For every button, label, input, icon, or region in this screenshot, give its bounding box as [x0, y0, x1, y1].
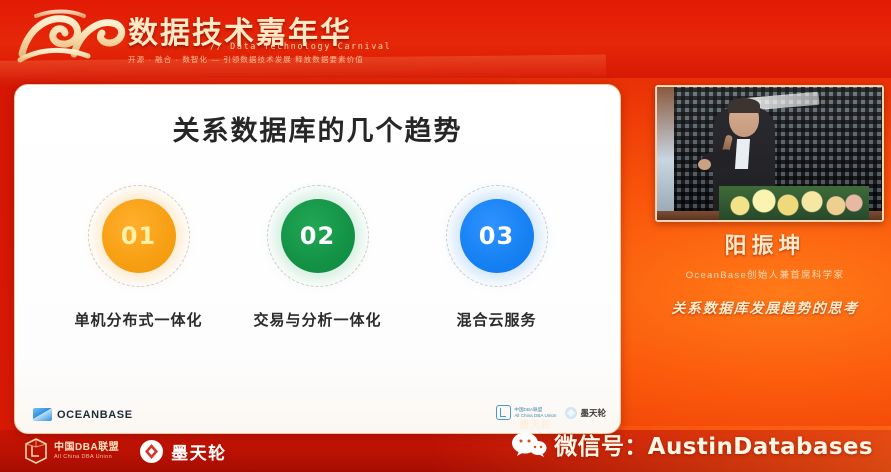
motianlun-logo-icon	[565, 407, 577, 419]
step-item: 02 交易与分析一体化	[233, 185, 403, 330]
step-number-badge: 01	[102, 199, 176, 273]
video-flower-arrangement	[719, 186, 869, 220]
motianlun-text: 墨天轮	[171, 439, 227, 464]
screenshot-root: 数据技术嘉年华 // Data Technology Carnival 开源 ·…	[0, 0, 891, 472]
oceanbase-logo: OCEANBASE	[33, 408, 133, 421]
video-speaker-hand	[698, 159, 711, 170]
video-speaker-shirt	[735, 139, 750, 169]
oceanbase-wave-icon	[33, 408, 52, 421]
wechat-bubble-icon	[511, 430, 547, 458]
speaker-topic: 关系数据库发展趋势的思考	[640, 298, 890, 318]
speaker-name: 阳振坤	[640, 228, 890, 260]
slide-title: 关系数据库的几个趋势	[15, 109, 620, 148]
carnival-swirl-emblem-icon	[14, 4, 126, 68]
speaker-video-thumbnail[interactable]	[655, 85, 884, 222]
event-tagline: 开源 · 融合 · 数智化 — 引领数据技术发展 释放数据要素价值	[128, 54, 364, 65]
step-ring: 03	[446, 185, 548, 287]
step-label: 单机分布式一体化	[74, 309, 202, 330]
motianlun-logo: 墨天轮	[139, 439, 227, 464]
step-ring: 02	[267, 185, 369, 287]
step-number-badge: 02	[281, 199, 355, 273]
speaker-info: 阳振坤 OceanBase创始人兼首席科学家 关系数据库发展趋势的思考	[640, 228, 890, 318]
step-ring: 01	[88, 185, 190, 287]
china-dba-union-cube-icon	[24, 438, 48, 464]
presentation-slide: 关系数据库的几个趋势 01 单机分布式一体化 02 交易与分析一体化 03 混合…	[14, 84, 621, 434]
step-label: 混合云服务	[456, 309, 536, 330]
bottom-bar-logos: 中国DBA联盟 All China DBA Union 墨天轮	[24, 438, 227, 464]
step-item: 03 混合云服务	[412, 185, 582, 330]
step-number-badge: 03	[460, 199, 534, 273]
china-dba-union-cube-icon	[496, 405, 511, 420]
step-label: 交易与分析一体化	[253, 309, 381, 330]
dba-union-cn: 中国DBA联盟	[54, 442, 119, 454]
video-left-wall	[657, 87, 674, 220]
china-dba-union-logo: 中国DBA联盟 All China DBA Union	[24, 438, 119, 464]
wechat-id-text: 微信号：AustinDatabases	[554, 427, 873, 461]
video-speaker-hair	[728, 98, 760, 113]
oceanbase-logo-text: OCEANBASE	[57, 409, 133, 421]
motianlun-ghost-text: 墨天轮	[519, 416, 552, 431]
event-header: 数据技术嘉年华 // Data Technology Carnival 开源 ·…	[0, 0, 891, 78]
event-english-subtitle: // Data Technology Carnival	[210, 42, 391, 52]
step-item: 01 单机分布式一体化	[54, 185, 224, 330]
motianlun-text-small: 墨天轮	[580, 407, 606, 419]
speaker-role: OceanBase创始人兼首席科学家	[640, 267, 890, 281]
motianlun-logo-icon	[139, 439, 164, 464]
dba-union-en: All China DBA Union	[54, 454, 119, 460]
wechat-watermark: 墨天轮 微信号：AustinDatabases	[511, 427, 873, 461]
motianlun-logo-small: 墨天轮	[565, 407, 606, 419]
slide-steps: 01 单机分布式一体化 02 交易与分析一体化 03 混合云服务	[15, 185, 620, 330]
